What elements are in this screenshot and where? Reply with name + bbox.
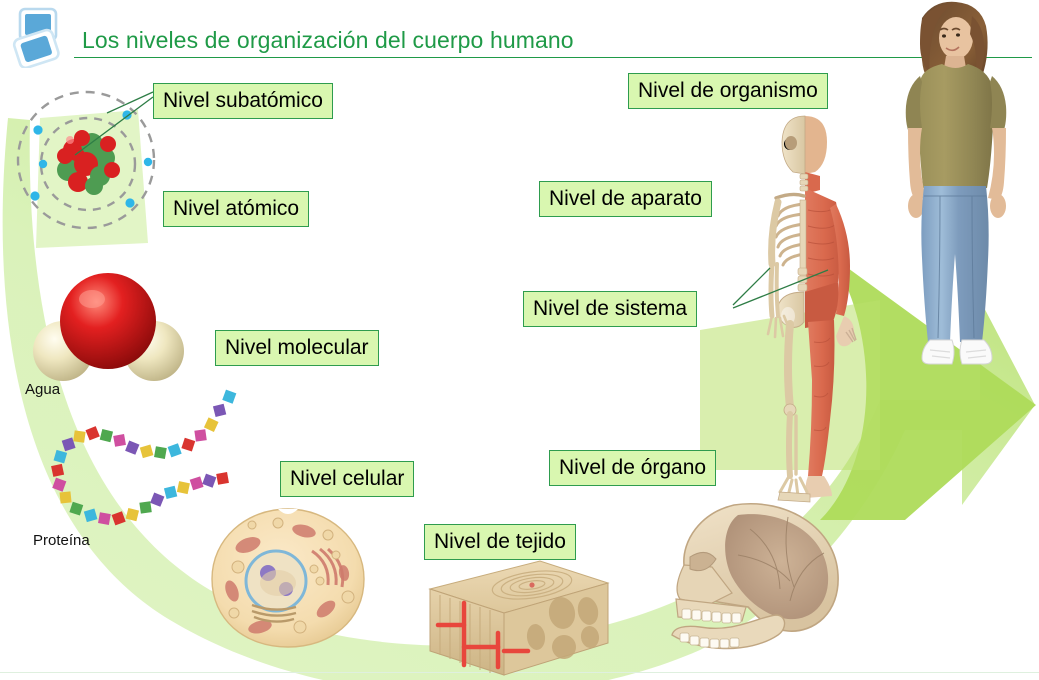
protein-caption: Proteína bbox=[33, 532, 90, 549]
page-title: Los niveles de organización del cuerpo h… bbox=[82, 27, 574, 54]
photo-frames-icon bbox=[6, 6, 68, 68]
label-nivel-de-tejido[interactable]: Nivel de tejido bbox=[424, 524, 576, 560]
label-nivel-de-sistema[interactable]: Nivel de sistema bbox=[523, 291, 697, 327]
label-nivel-de-aparato[interactable]: Nivel de aparato bbox=[539, 181, 712, 217]
slide-canvas: Los niveles de organización del cuerpo h… bbox=[0, 0, 1039, 680]
label-nivel-de-organo[interactable]: Nivel de órgano bbox=[549, 450, 716, 486]
standing-person-photo-icon bbox=[880, 0, 1030, 375]
label-nivel-celular[interactable]: Nivel celular bbox=[280, 461, 414, 497]
bone-tissue-icon bbox=[412, 555, 617, 680]
animal-cell-icon bbox=[208, 505, 368, 650]
skeleton-muscle-figure-icon bbox=[740, 110, 870, 520]
label-nivel-de-organismo[interactable]: Nivel de organismo bbox=[628, 73, 828, 109]
label-nivel-subatomico[interactable]: Nivel subatómico bbox=[153, 83, 333, 119]
label-nivel-molecular[interactable]: Nivel molecular bbox=[215, 330, 379, 366]
water-molecule-icon bbox=[30, 265, 190, 390]
label-nivel-atomico[interactable]: Nivel atómico bbox=[163, 191, 309, 227]
